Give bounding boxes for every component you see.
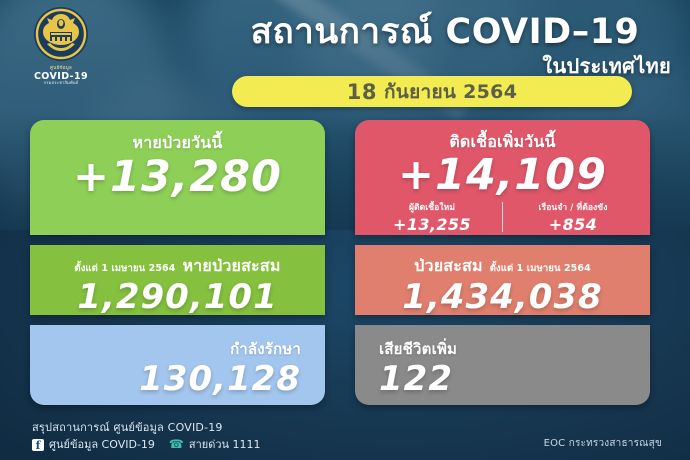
footer-contact-line: ศูนย์ข้อมูล COVID-19 ☎ สายด่วน 1111 xyxy=(32,436,261,453)
card-cases-total: ป่วยสะสม ตั้งแต่ 1 เมษายน 2564 1,434,038 xyxy=(355,245,650,315)
deaths-label: เสียชีวิตเพิ่ม xyxy=(355,337,650,361)
date-badge: 18 กันยายน 2564 xyxy=(232,76,632,107)
footer-right-label: EOC กระทรวงสาธารณสุข xyxy=(544,436,662,451)
card-recovered-total: ตั้งแต่ 1 เมษายน 2564 หายป่วยสะสม 1,290,… xyxy=(30,245,325,315)
breakdown-new-cases: ผู้ติดเชื้อใหม่ +13,255 xyxy=(372,200,492,234)
breakdown-prison-cases-label: เรือนจำ / ที่ต้องขัง xyxy=(513,200,633,214)
card-cases-today: ติดเชื้อเพิ่มวันนี้ +14,109 ผู้ติดเชื้อใ… xyxy=(355,120,650,235)
recovered-total-header: ตั้งแต่ 1 เมษายน 2564 หายป่วยสะสม xyxy=(30,254,325,279)
recovered-total-label: หายป่วยสะสม xyxy=(182,254,280,279)
title-main-text: สถานการณ์ COVID–19 xyxy=(215,14,675,52)
card-deaths: เสียชีวิตเพิ่ม 122 xyxy=(355,325,650,405)
date-day: 18 xyxy=(347,80,377,104)
facebook-icon[interactable] xyxy=(32,439,44,451)
breakdown-prison-cases-value: +854 xyxy=(513,215,633,234)
page-title: สถานการณ์ COVID–19 ในประเทศไทย xyxy=(215,14,675,82)
treating-value: 130,128 xyxy=(30,362,325,397)
cases-today-breakdown: ผู้ติดเชื้อใหม่ +13,255 เรือนจำ / ที่ต้อ… xyxy=(355,200,650,234)
breakdown-new-cases-label: ผู้ติดเชื้อใหม่ xyxy=(372,200,492,214)
agency-logo: ศูนย์ข้อมูล COVID-19 กรมประชาสัมพันธ์ xyxy=(22,6,100,85)
recovered-total-value: 1,290,101 xyxy=(30,280,325,315)
cases-today-value: +14,109 xyxy=(355,154,650,198)
footer-left: สรุปสถานการณ์ ศูนย์ข้อมูล COVID-19 ศูนย์… xyxy=(32,420,261,453)
recovered-today-value: +13,280 xyxy=(30,156,325,200)
cases-total-value: 1,434,038 xyxy=(355,280,650,315)
date-month-year: กันยายน 2564 xyxy=(384,77,517,107)
footer-facebook-label[interactable]: ศูนย์ข้อมูล COVID-19 xyxy=(49,437,155,453)
deaths-value: 122 xyxy=(355,362,650,397)
card-treating: กำลังรักษา 130,128 xyxy=(30,325,325,405)
logo-caption-department: กรมประชาสัมพันธ์ xyxy=(22,81,100,85)
card-recovered-today: หายป่วยวันนี้ +13,280 xyxy=(30,120,325,235)
cases-total-since-label: ตั้งแต่ 1 เมษายน 2564 xyxy=(490,261,591,276)
covid-infographic: ศูนย์ข้อมูล COVID-19 กรมประชาสัมพันธ์ สถ… xyxy=(0,0,690,460)
breakdown-divider xyxy=(502,202,503,232)
cases-total-header: ป่วยสะสม ตั้งแต่ 1 เมษายน 2564 xyxy=(355,254,650,279)
phone-icon: ☎ xyxy=(169,436,184,453)
breakdown-new-cases-value: +13,255 xyxy=(372,215,492,234)
cases-total-label: ป่วยสะสม xyxy=(414,254,483,279)
thai-garuda-emblem-icon xyxy=(33,6,89,62)
treating-label: กำลังรักษา xyxy=(30,337,325,361)
recovered-total-since-label: ตั้งแต่ 1 เมษายน 2564 xyxy=(74,261,175,276)
breakdown-prison-cases: เรือนจำ / ที่ต้องขัง +854 xyxy=(513,200,633,234)
footer-hotline-label: สายด่วน 1111 xyxy=(189,437,261,453)
footer-summary-line: สรุปสถานการณ์ ศูนย์ข้อมูล COVID-19 xyxy=(32,420,261,436)
